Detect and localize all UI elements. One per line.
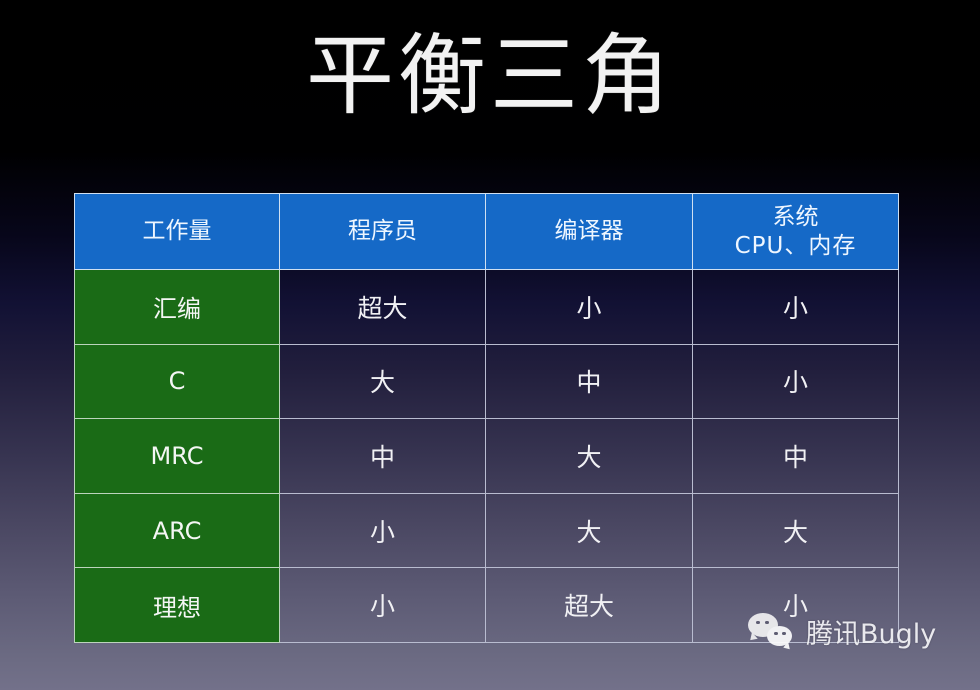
table-row: 理想 小 超大 小 bbox=[75, 568, 899, 643]
table-row: 汇编 超大 小 小 bbox=[75, 270, 899, 345]
row-header-cell: ARC bbox=[75, 493, 280, 568]
column-header-compiler: 编译器 bbox=[486, 194, 693, 270]
cell-programmer: 大 bbox=[280, 344, 486, 419]
cell-system: 小 bbox=[693, 568, 899, 643]
cell-system: 小 bbox=[693, 344, 899, 419]
slide-canvas: 平衡三角 工作量 程序员 编译器 系统 CPU、内存 bbox=[0, 0, 980, 690]
cell-system: 大 bbox=[693, 493, 899, 568]
cell-compiler: 大 bbox=[486, 419, 693, 494]
cell-compiler: 中 bbox=[486, 344, 693, 419]
row-header-cell: 理想 bbox=[75, 568, 280, 643]
column-header-workload: 工作量 bbox=[75, 194, 280, 270]
table-header: 工作量 程序员 编译器 系统 CPU、内存 bbox=[75, 194, 899, 270]
cell-compiler: 超大 bbox=[486, 568, 693, 643]
table-row: ARC 小 大 大 bbox=[75, 493, 899, 568]
table-header-row: 工作量 程序员 编译器 系统 CPU、内存 bbox=[75, 194, 899, 270]
table-row: MRC 中 大 中 bbox=[75, 419, 899, 494]
table-body: 汇编 超大 小 小 C 大 中 小 MRC 中 大 中 ARC 小 大 大 bbox=[75, 270, 899, 643]
table-row: C 大 中 小 bbox=[75, 344, 899, 419]
cell-system: 中 bbox=[693, 419, 899, 494]
cell-programmer: 小 bbox=[280, 568, 486, 643]
column-header-system-sublabel: CPU、内存 bbox=[693, 232, 898, 261]
cell-programmer: 超大 bbox=[280, 270, 486, 345]
row-header-cell: MRC bbox=[75, 419, 280, 494]
column-header-programmer: 程序员 bbox=[280, 194, 486, 270]
column-header-programmer-label: 程序员 bbox=[348, 218, 417, 244]
balance-triangle-table: 工作量 程序员 编译器 系统 CPU、内存 汇编 超大 小 小 bbox=[74, 193, 899, 643]
row-header-cell: 汇编 bbox=[75, 270, 280, 345]
page-title: 平衡三角 bbox=[0, 24, 980, 128]
cell-compiler: 大 bbox=[486, 493, 693, 568]
column-header-compiler-label: 编译器 bbox=[555, 218, 624, 244]
cell-system: 小 bbox=[693, 270, 899, 345]
cell-programmer: 小 bbox=[280, 493, 486, 568]
row-header-cell: C bbox=[75, 344, 280, 419]
column-header-workload-label: 工作量 bbox=[143, 218, 212, 244]
cell-compiler: 小 bbox=[486, 270, 693, 345]
column-header-system: 系统 CPU、内存 bbox=[693, 194, 899, 270]
cell-programmer: 中 bbox=[280, 419, 486, 494]
column-header-system-label: 系统 bbox=[773, 204, 819, 230]
